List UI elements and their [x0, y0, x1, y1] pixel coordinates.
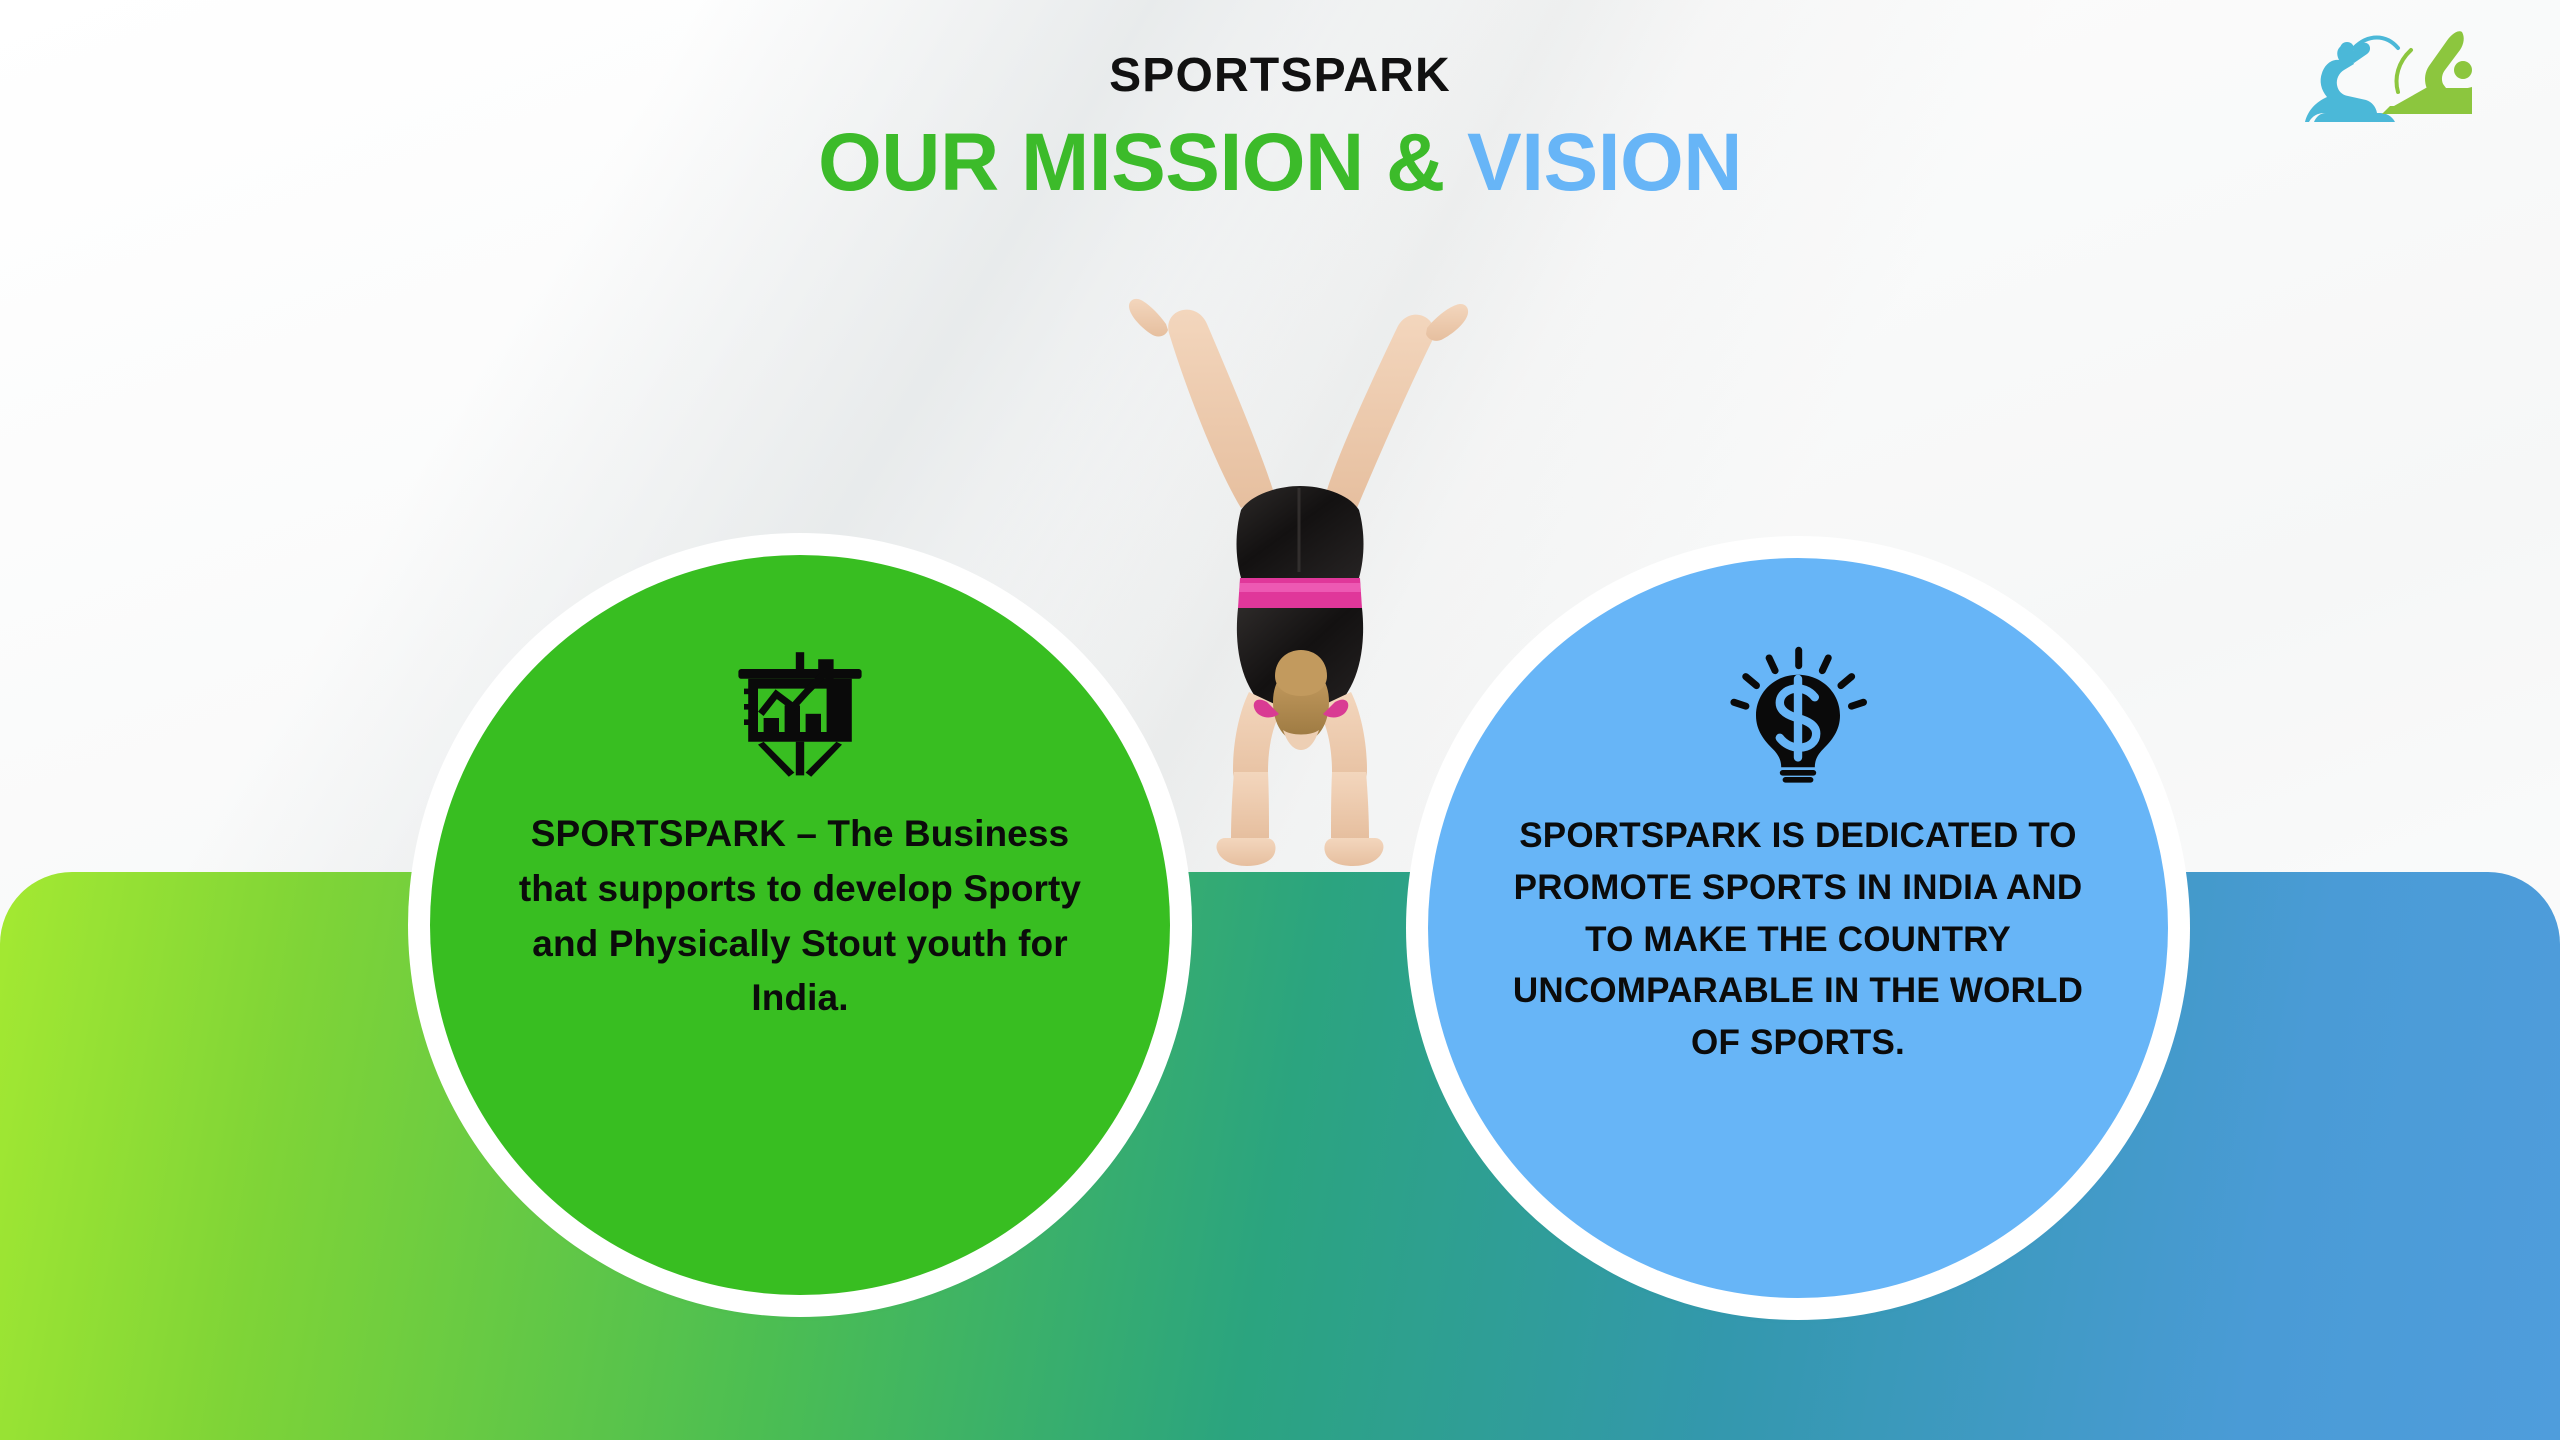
vision-card-text: SPORTSPARK IS DEDICATED TO PROMOTE SPORT… — [1488, 810, 2108, 1069]
header: SPORTSPARK OUR MISSION & VISION — [0, 52, 2560, 204]
banner-canvas: SPORTSPARK OUR MISSION & VISION — [0, 0, 2560, 1440]
page-title-vision: VISION — [1467, 117, 1742, 208]
sportspark-athletes-logo-icon — [2294, 18, 2474, 130]
mission-card-text: SPORTSPARK – The Business that supports … — [500, 807, 1100, 1026]
page-title-mission: OUR MISSION & — [818, 117, 1445, 208]
bottom-gradient-band — [0, 872, 2560, 1440]
brand-eyebrow: SPORTSPARK — [0, 52, 2560, 100]
presentation-growth-chart-icon — [730, 641, 870, 781]
lightbulb-dollar-idea-icon — [1728, 644, 1868, 784]
mission-card[interactable]: SPORTSPARK – The Business that supports … — [430, 555, 1170, 1295]
vision-card[interactable]: SPORTSPARK IS DEDICATED TO PROMOTE SPORT… — [1428, 558, 2168, 1298]
page-title: OUR MISSION & VISION — [0, 122, 2560, 204]
